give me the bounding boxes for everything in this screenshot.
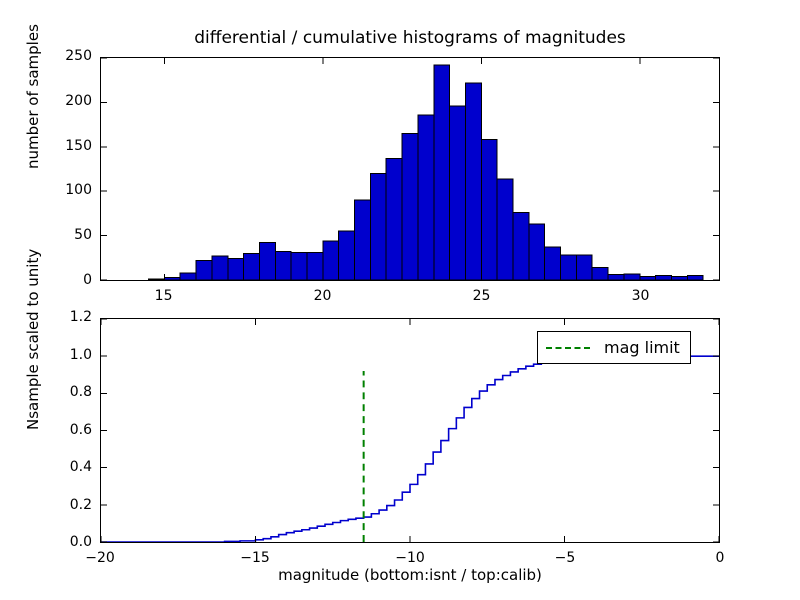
xtick-label: −5 bbox=[535, 551, 595, 565]
ytick-label: 1.0 bbox=[46, 348, 92, 362]
histogram-bar bbox=[291, 252, 307, 280]
histogram-bar bbox=[656, 276, 672, 280]
histogram-bar bbox=[370, 173, 386, 280]
ytick-label: 0.6 bbox=[46, 423, 92, 437]
mag-limit-line-icon bbox=[546, 347, 590, 349]
histogram-bar bbox=[323, 241, 339, 280]
figure-xlabel: magnitude (bottom:isnt / top:calib) bbox=[100, 566, 720, 584]
top-axes-ylabel: number of samples bbox=[24, 24, 42, 169]
histogram-bar bbox=[513, 213, 529, 280]
histogram-bar bbox=[497, 179, 513, 280]
figure-canvas: differential / cumulative histograms of … bbox=[0, 0, 800, 600]
ytick-label: 50 bbox=[46, 228, 92, 242]
histogram-bar bbox=[624, 274, 640, 280]
histogram-bar bbox=[529, 224, 545, 280]
ytick-label: 250 bbox=[46, 49, 92, 63]
legend-box: mag limit bbox=[537, 331, 691, 364]
ytick-label: 200 bbox=[46, 94, 92, 108]
ytick-label: 0 bbox=[46, 273, 92, 287]
histogram-bar bbox=[386, 158, 402, 280]
histogram-bar bbox=[339, 231, 355, 280]
cumulative-curve bbox=[101, 356, 719, 542]
histogram-bar bbox=[307, 252, 323, 280]
histogram-bar bbox=[259, 243, 275, 280]
histogram-bar bbox=[450, 106, 466, 280]
histogram-bar bbox=[592, 268, 608, 280]
ytick-label: 100 bbox=[46, 183, 92, 197]
ytick-label: 0.4 bbox=[46, 460, 92, 474]
histogram-bar bbox=[640, 276, 656, 280]
histogram-bar bbox=[212, 256, 228, 280]
xtick-label: −15 bbox=[225, 551, 285, 565]
histogram-bar bbox=[545, 247, 561, 280]
histogram-bar bbox=[608, 275, 624, 280]
xtick-label: 15 bbox=[134, 289, 194, 303]
xtick-label: −20 bbox=[70, 551, 130, 565]
histogram-bar bbox=[576, 255, 592, 280]
histogram-bar bbox=[418, 115, 434, 280]
histogram-bar bbox=[434, 65, 450, 280]
ytick-label: 0.2 bbox=[46, 498, 92, 512]
histogram-bar bbox=[228, 259, 244, 280]
histogram-bar bbox=[164, 277, 180, 280]
bottom-axes-ylabel: Nsample scaled to unity bbox=[24, 249, 42, 430]
histogram-bar bbox=[671, 276, 687, 280]
ytick-label: 0.0 bbox=[46, 535, 92, 549]
differential-histogram-svg bbox=[101, 58, 719, 280]
histogram-bar bbox=[687, 276, 703, 280]
ytick-label: 1.2 bbox=[46, 310, 92, 324]
histogram-bar bbox=[481, 140, 497, 280]
xtick-label: 0 bbox=[690, 551, 750, 565]
xtick-label: 25 bbox=[452, 289, 512, 303]
differential-histogram-plot bbox=[100, 57, 720, 281]
histogram-bar bbox=[180, 273, 196, 280]
histogram-bar bbox=[465, 83, 481, 280]
xtick-label: −10 bbox=[380, 551, 440, 565]
histogram-bar bbox=[196, 260, 212, 280]
ytick-label: 150 bbox=[46, 139, 92, 153]
histogram-bar bbox=[402, 133, 418, 280]
xtick-label: 20 bbox=[293, 289, 353, 303]
histogram-bar bbox=[275, 252, 291, 280]
legend-label-mag-limit: mag limit bbox=[604, 338, 680, 357]
histogram-bar bbox=[561, 255, 577, 280]
histogram-bar bbox=[355, 200, 371, 280]
ytick-label: 0.8 bbox=[46, 385, 92, 399]
figure-title: differential / cumulative histograms of … bbox=[100, 28, 720, 48]
histogram-bar bbox=[149, 279, 165, 280]
xtick-label: 30 bbox=[611, 289, 671, 303]
histogram-bar bbox=[244, 253, 260, 280]
